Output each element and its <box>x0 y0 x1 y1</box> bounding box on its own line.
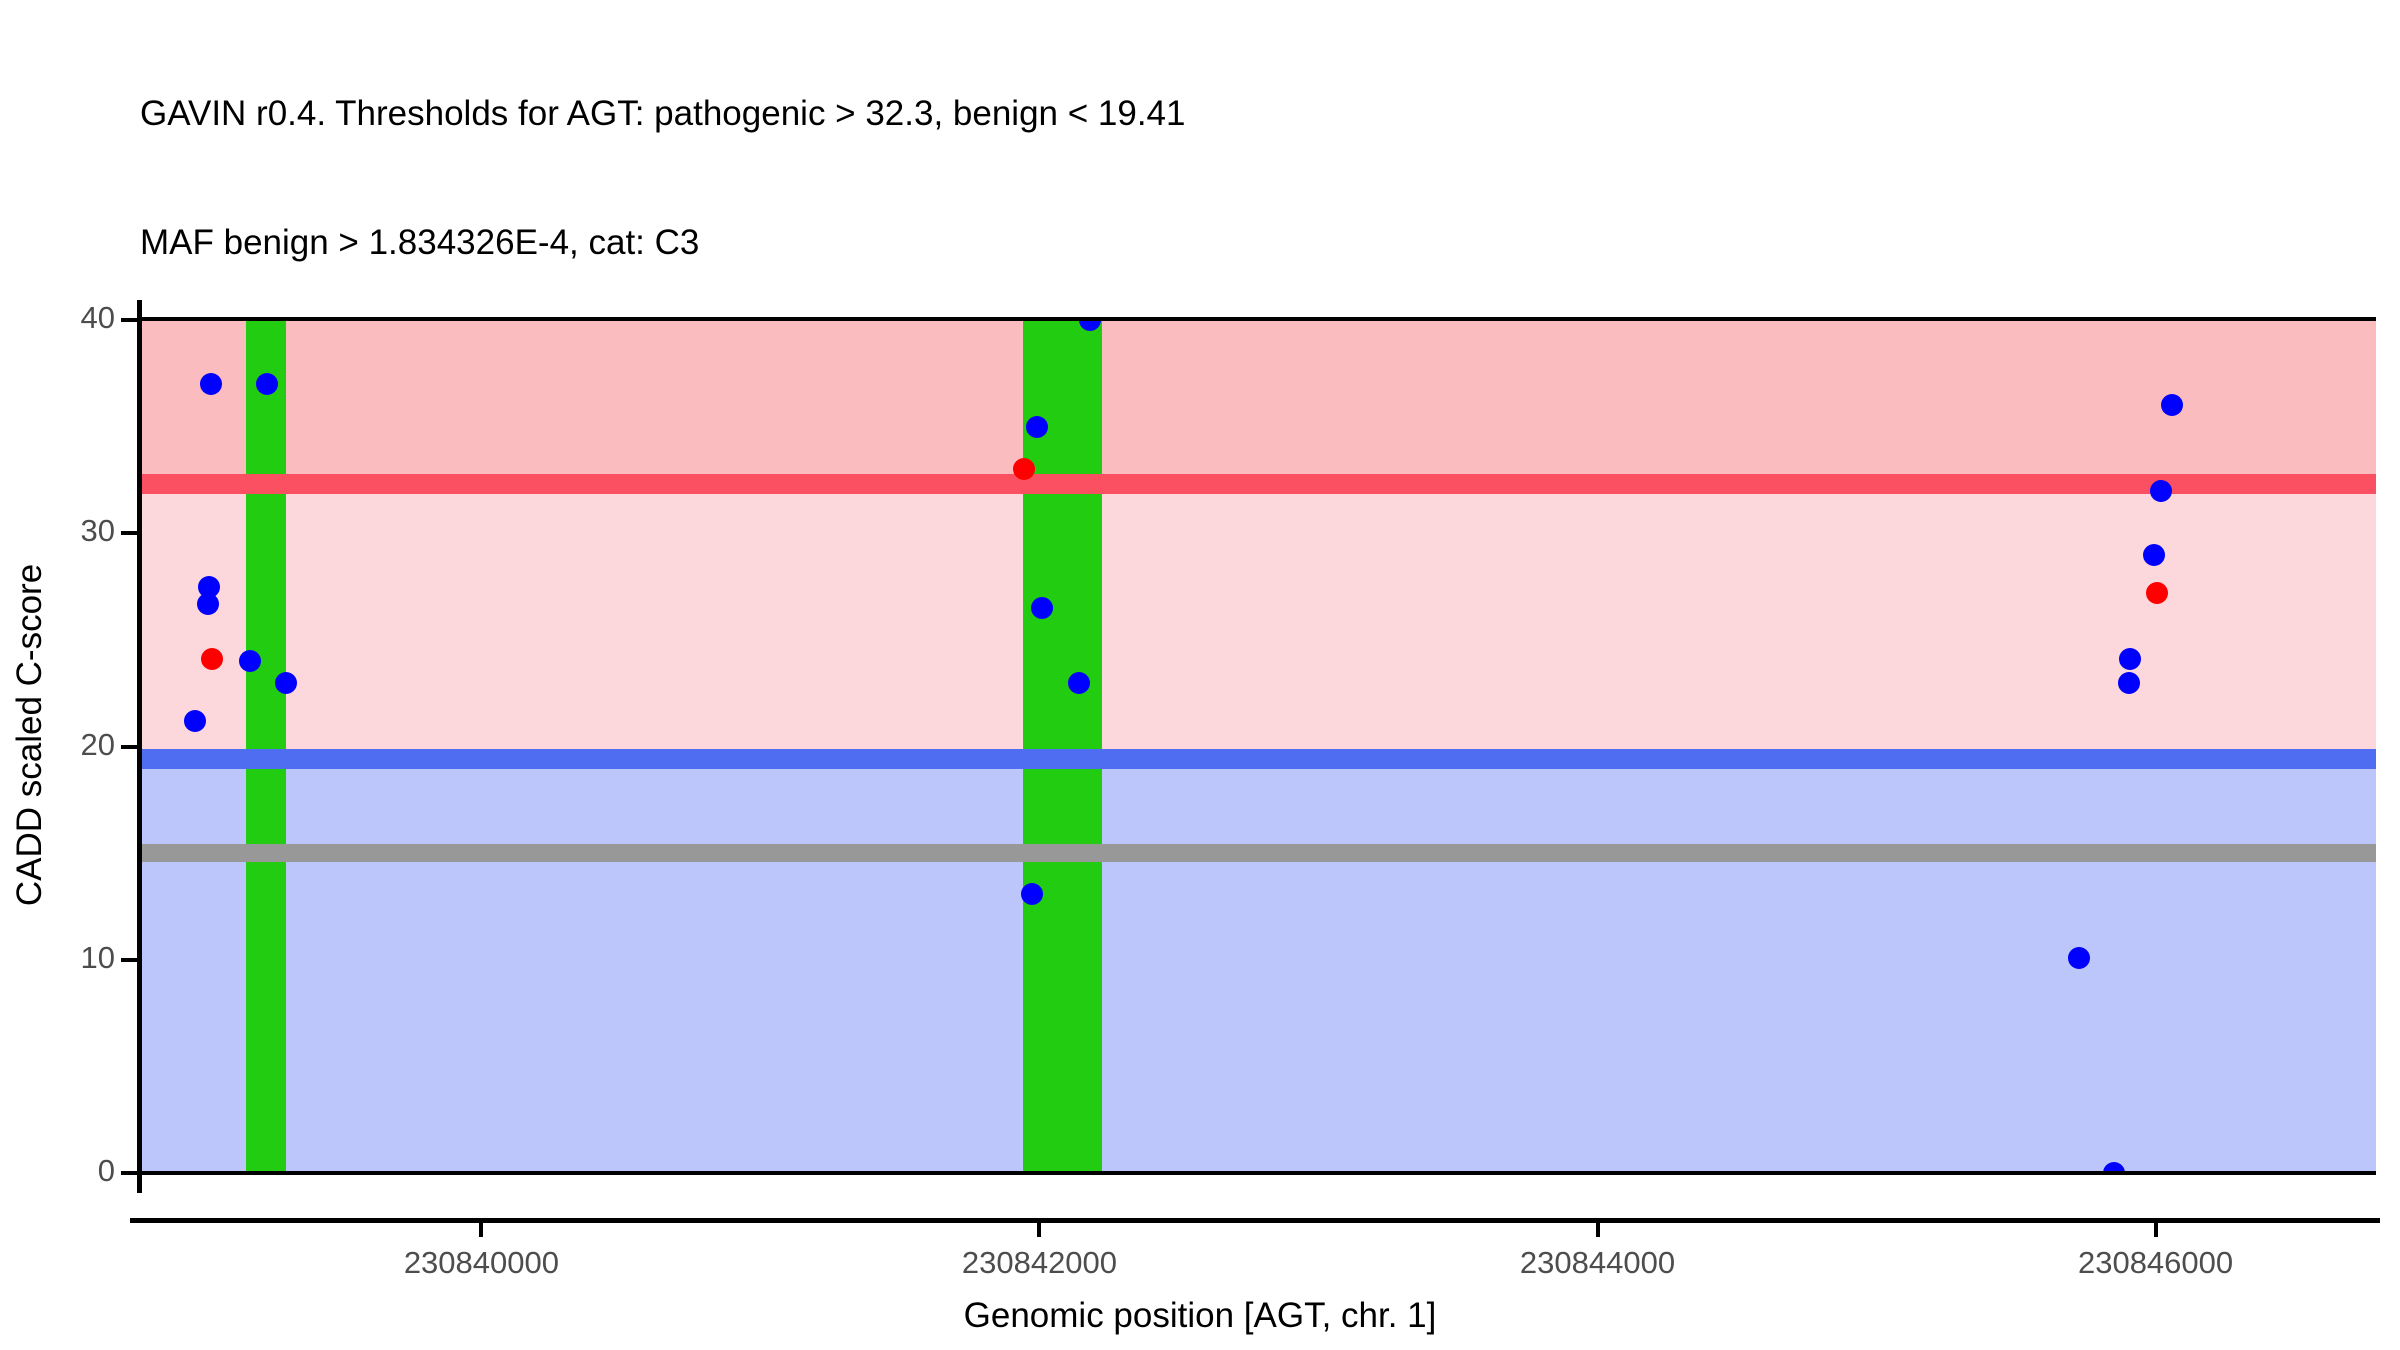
x-tick-label: 230842000 <box>869 1245 1209 1281</box>
x-tick-label: 230846000 <box>1986 1245 2326 1281</box>
band-ambiguous <box>141 484 2376 759</box>
gnomad-variant-point <box>1021 883 1043 905</box>
title-line-thresholds: GAVIN r0.4. Thresholds for AGT: pathogen… <box>140 92 2340 135</box>
gnomad-variant-point <box>1026 416 1048 438</box>
panel-bottom-border <box>141 1171 2376 1175</box>
y-tick-mark <box>121 1171 137 1175</box>
pathogenic-threshold-line <box>141 474 2376 494</box>
y-tick-mark <box>121 531 137 535</box>
gnomad-variant-point <box>200 373 222 395</box>
x-tick-mark <box>479 1222 483 1237</box>
gnomad-variant-point <box>1031 597 1053 619</box>
gnomad-variant-point <box>239 650 261 672</box>
clinvar-variant-point <box>2146 582 2168 604</box>
gnomad-variant-point <box>197 593 219 615</box>
gnomad-variant-point <box>256 373 278 395</box>
x-tick-label: 230844000 <box>1428 1245 1768 1281</box>
title-line-maf: MAF benign > 1.834326E-4, cat: C3 <box>140 221 2340 264</box>
y-axis-line <box>137 300 142 1193</box>
x-tick-mark <box>1037 1222 1041 1237</box>
gnomad-variant-point <box>1068 672 1090 694</box>
gnomad-variant-point <box>275 672 297 694</box>
y-tick-mark <box>121 958 137 962</box>
x-tick-label: 230840000 <box>311 1245 651 1281</box>
y-axis-title: CADD scaled C-score <box>10 285 50 1185</box>
x-tick-mark <box>2154 1222 2158 1237</box>
band-benign <box>141 759 2376 1173</box>
band-pathogenic <box>141 320 2376 484</box>
plot-panel <box>141 320 2376 1173</box>
fallback-threshold-line <box>141 844 2376 862</box>
refseq-exon-2 <box>1023 320 1103 1173</box>
benign-threshold-line <box>141 749 2376 769</box>
x-axis-title: Genomic position [AGT, chr. 1] <box>0 1296 2400 1336</box>
panel-top-border <box>141 317 2376 321</box>
x-tick-mark <box>1596 1222 1600 1237</box>
gnomad-variant-point <box>2068 947 2090 969</box>
gnomad-variant-point <box>2143 544 2165 566</box>
plot-root: GAVIN r0.4. Thresholds for AGT: pathogen… <box>0 0 2400 1350</box>
y-tick-mark <box>121 745 137 749</box>
gnomad-variant-point <box>2118 672 2140 694</box>
refseq-exon-1 <box>246 320 286 1173</box>
gnomad-variant-point <box>2150 480 2172 502</box>
x-axis-line <box>130 1218 2380 1223</box>
y-tick-mark <box>121 318 137 322</box>
